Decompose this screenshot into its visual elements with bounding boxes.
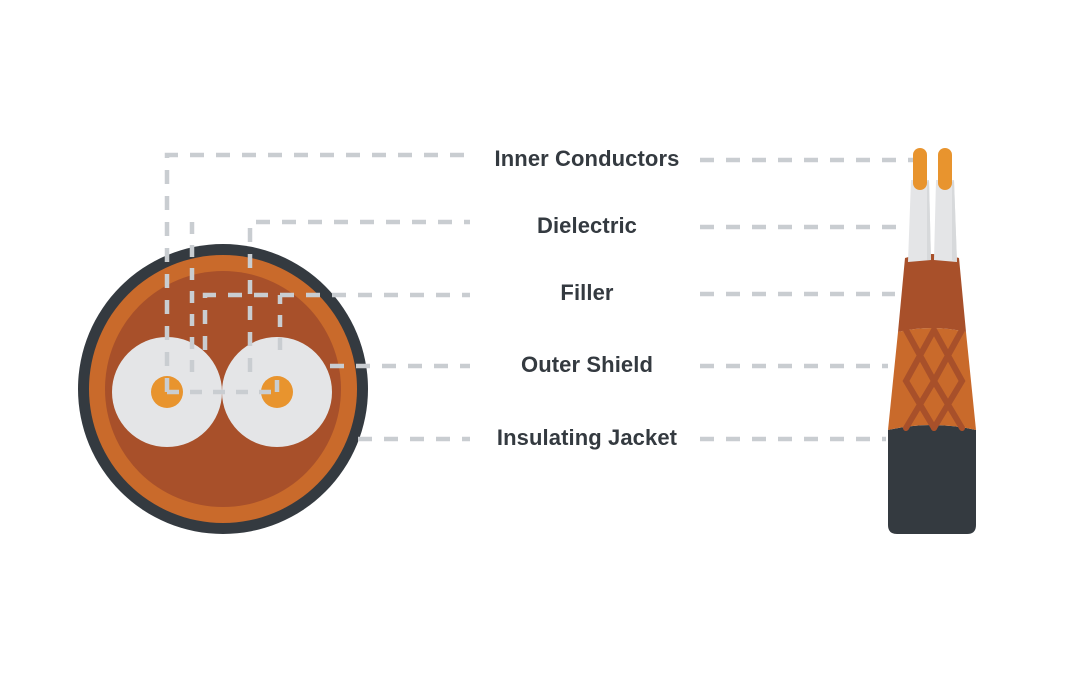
label-insulating-jacket: Insulating Jacket bbox=[497, 425, 678, 450]
cross-section-view bbox=[78, 244, 368, 534]
cable-filler-sleeve bbox=[898, 254, 966, 332]
label-outer-shield: Outer Shield bbox=[521, 352, 653, 377]
cable-outer-shield bbox=[888, 328, 976, 430]
label-dielectric: Dielectric bbox=[537, 213, 637, 238]
cable-inner-conductor-pin-left bbox=[913, 148, 927, 190]
label-inner-conductors: Inner Conductors bbox=[495, 146, 680, 171]
cable-diagram: Inner Conductors Dielectric Filler Outer… bbox=[0, 0, 1080, 680]
label-filler: Filler bbox=[560, 280, 614, 305]
cable-insulating-jacket bbox=[888, 425, 976, 534]
cable-cutaway-illustration: Inner Conductors Dielectric Filler Outer… bbox=[0, 0, 1080, 680]
cable-inner-conductor-pin-right bbox=[938, 148, 952, 190]
